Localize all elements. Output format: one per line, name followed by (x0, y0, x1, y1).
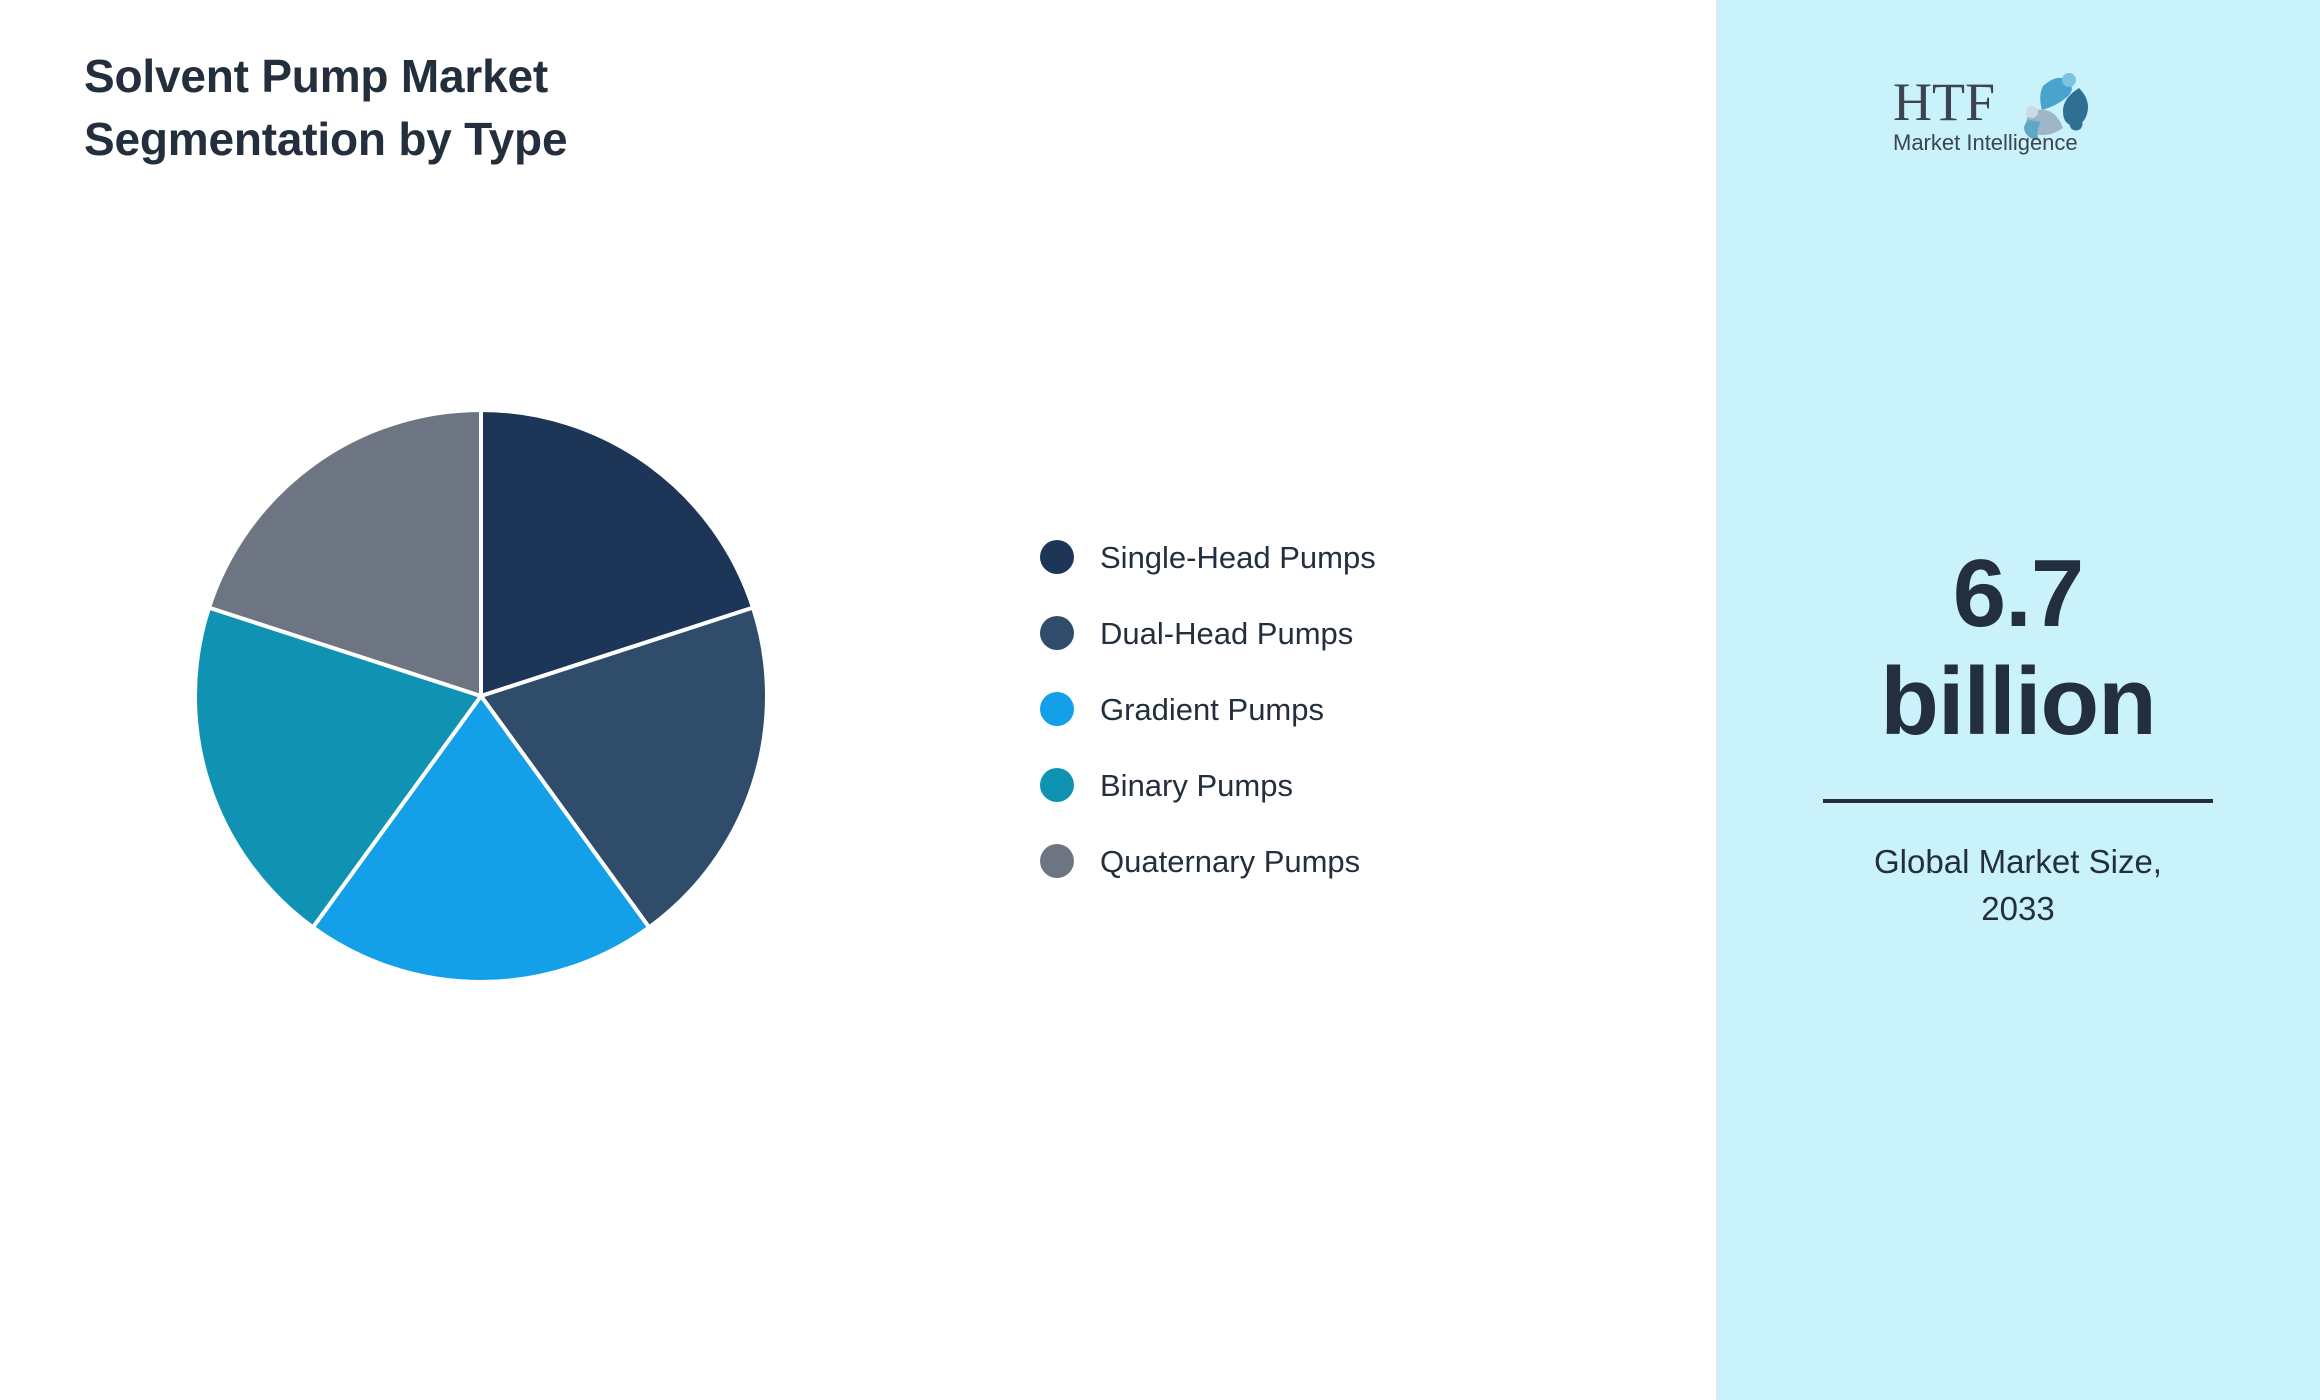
legend-swatch-icon (1040, 540, 1074, 574)
stat-value: 6.7 billion (1783, 540, 2253, 757)
logo-tagline-text: Market Intelligence (1893, 130, 2078, 155)
legend-swatch-icon (1040, 692, 1074, 726)
logo-wordmark-text: HTF (1893, 72, 1995, 132)
stat-divider (1823, 799, 2213, 803)
legend-item-single-head-pumps[interactable]: Single-Head Pumps (1040, 519, 1376, 595)
legend-item-label: Gradient Pumps (1100, 694, 1324, 725)
pie-chart (193, 408, 769, 984)
legend-item-dual-head-pumps[interactable]: Dual-Head Pumps (1040, 595, 1376, 671)
legend-swatch-icon (1040, 768, 1074, 802)
legend-item-gradient-pumps[interactable]: Gradient Pumps (1040, 671, 1376, 747)
legend-item-label: Single-Head Pumps (1100, 542, 1376, 573)
legend-item-label: Quaternary Pumps (1100, 846, 1360, 877)
legend-item-quaternary-pumps[interactable]: Quaternary Pumps (1040, 823, 1376, 899)
stat-caption: Global Market Size, 2033 (1783, 839, 2253, 933)
chart-legend: Single-Head Pumps Dual-Head Pumps Gradie… (1040, 519, 1376, 899)
legend-swatch-icon (1040, 844, 1074, 878)
legend-item-label: Dual-Head Pumps (1100, 618, 1353, 649)
legend-item-binary-pumps[interactable]: Binary Pumps (1040, 747, 1376, 823)
legend-swatch-icon (1040, 616, 1074, 650)
chart-panel: Solvent Pump Market Segmentation by Type… (0, 0, 1716, 1400)
market-infographic: Solvent Pump Market Segmentation by Type… (0, 0, 2320, 1400)
htf-market-intelligence-logo: HTF Market Intelligence (1893, 62, 2143, 158)
legend-item-label: Binary Pumps (1100, 770, 1293, 801)
stat-block: 6.7 billion Global Market Size, 2033 (1783, 540, 2253, 933)
page-title: Solvent Pump Market Segmentation by Type (84, 45, 844, 171)
panel-divider (1716, 0, 1718, 1400)
pie-chart-svg (193, 408, 769, 984)
logo-icon: HTF Market Intelligence (1893, 62, 2143, 158)
summary-panel: HTF Market Intelligence 6.7 billion (1716, 0, 2320, 1400)
